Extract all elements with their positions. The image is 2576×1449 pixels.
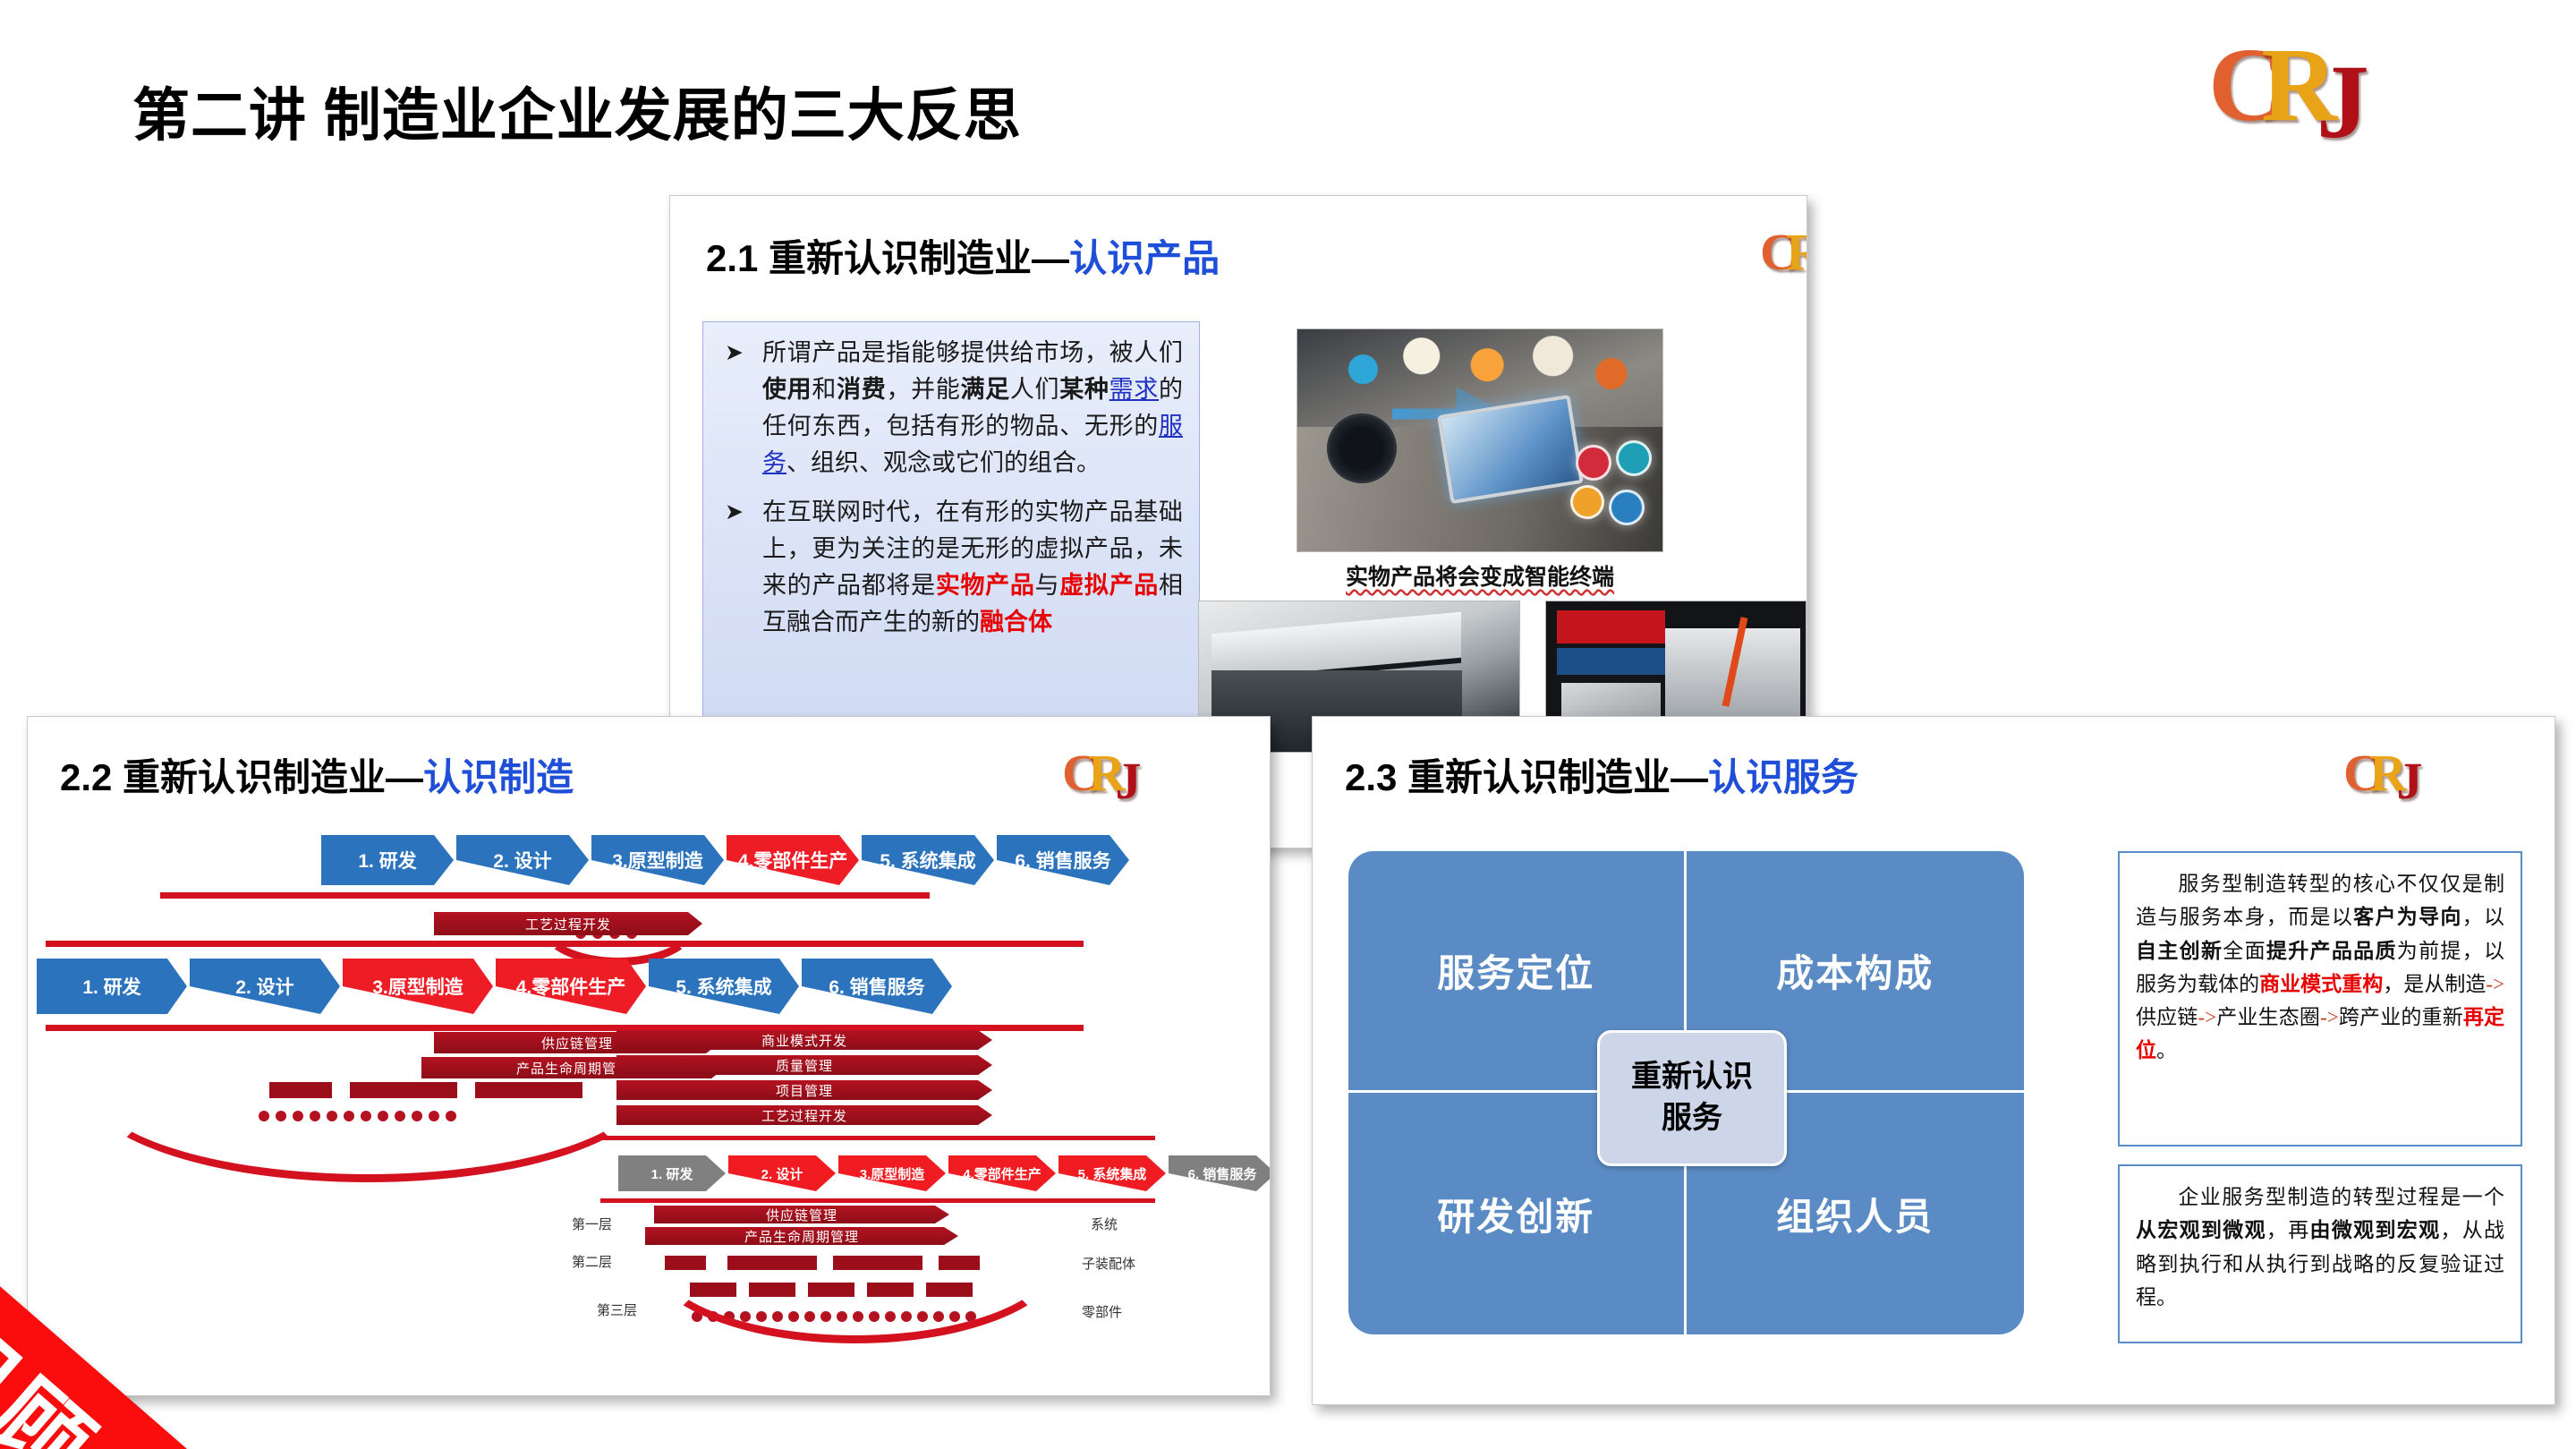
level-label-1: 第一层: [572, 1215, 612, 1233]
process-step-1[interactable]: 1. 研发: [618, 1155, 726, 1191]
logo-letter-j: J: [2317, 43, 2369, 160]
flow-curve: [645, 1164, 1066, 1343]
slide-title-2-2: 2.2 重新认识制造业—认识制造: [60, 747, 574, 802]
brand-badge-red: [1557, 610, 1666, 644]
text-run: ->: [2486, 973, 2504, 995]
center-line-2: 服务: [1662, 1098, 1722, 1139]
process-step-1[interactable]: 1. 研发: [37, 959, 187, 1014]
slide-title-2-1-black: 2.1 重新认识制造业—: [706, 237, 1069, 279]
crj-logo-slide-2-1: CRJ: [1760, 226, 1807, 278]
note-text-2: 企业服务型制造的转型过程是一个从宏观到微观，再由微观到宏观，从战略到执行和从执行…: [2136, 1186, 2504, 1308]
text-run: 某种: [1059, 376, 1109, 403]
text-run: 人们: [1010, 376, 1059, 403]
overlay-bar-business-model: 商业模式开发: [616, 1030, 992, 1050]
photo-caption: 实物产品将会变成智能终端: [1297, 559, 1663, 592]
app-icon-blue: [1609, 490, 1645, 525]
right-label-component: 零部件: [1082, 1302, 1122, 1321]
note-textbox-2: 企业服务型制造的转型过程是一个从宏观到微观，再由微观到宏观，从战略到执行和从执行…: [2118, 1164, 2522, 1343]
process-step-3[interactable]: 3.原型制造: [591, 835, 724, 885]
text-run: 供应链: [2136, 1006, 2198, 1028]
text-run: 提升产品品质: [2266, 940, 2397, 962]
flow-curve: [81, 985, 654, 1182]
text-run: 与: [1035, 572, 1060, 599]
bullet-item: ➤ 所谓产品是指能够提供给市场，被人们使用和消费，并能满足人们某种需求的任何东西…: [718, 335, 1183, 482]
brand-badge-blue: [1557, 648, 1666, 675]
note-textbox-1: 服务型制造转型的核心不仅仅是制造与服务本身，而是以客户为导向，以自主创新全面提升…: [2118, 851, 2522, 1146]
logo-letter-r: R: [1786, 223, 1807, 281]
text-run: ->: [2320, 1006, 2339, 1028]
text-run: 由微观到宏观: [2310, 1219, 2441, 1241]
process-step-6[interactable]: 6. 销售服务: [802, 959, 952, 1014]
text-run: 跨产业的重新: [2339, 1006, 2463, 1028]
text-run: 所谓产品是指能够提供给市场，被人们: [762, 339, 1183, 366]
overlay-bar-project: 项目管理: [616, 1080, 992, 1100]
process-step-5[interactable]: 5. 系统集成: [649, 959, 799, 1014]
text-run: ，再: [2266, 1219, 2310, 1241]
text-run: 自主创新: [2136, 940, 2223, 962]
bullet-text: 在互联网时代，在有形的实物产品基础上，更为关注的是无形的虚拟产品，未来的产品都将…: [762, 499, 1183, 635]
text-run: ，并能: [886, 376, 960, 403]
logo-letter-j: J: [1115, 752, 1141, 810]
slide-title-2-2-blue: 认识制造: [423, 756, 574, 798]
slide-title-2-1: 2.1 重新认识制造业—认识产品: [706, 228, 1220, 283]
slide-canvas: 第二讲 制造业企业发展的三大反思 CRJ 2.1 重新认识制造业—认识产品 CR…: [0, 0, 2576, 1449]
slide-title-2-1-blue: 认识产品: [1069, 237, 1220, 279]
page-title: 第二讲 制造业企业发展的三大反思: [132, 70, 1022, 152]
app-icon-orange: [1570, 485, 1604, 519]
process-step-4[interactable]: 4.零部件生产: [727, 835, 859, 885]
text-run: 、组织、观念或它们的组合。: [786, 449, 1101, 476]
flow-line: [600, 1136, 1155, 1140]
level-label-3: 第三层: [597, 1300, 637, 1319]
process-step-2[interactable]: 2. 设计: [456, 835, 589, 885]
text-run: ->: [2198, 1006, 2216, 1028]
right-label-subassembly: 子装配体: [1082, 1254, 1135, 1273]
text-run: ，是从制造: [2383, 973, 2486, 995]
smart-terminal-photo: [1297, 328, 1663, 552]
bullet-item: ➤ 在互联网时代，在有形的实物产品基础上，更为关注的是无形的虚拟产品，未来的产品…: [718, 494, 1183, 641]
text-run: 需求: [1109, 376, 1159, 403]
process-step-5[interactable]: 5. 系统集成: [1058, 1155, 1166, 1191]
flow-line: [46, 941, 1084, 947]
right-label-system: 系统: [1091, 1215, 1118, 1233]
text-run: 和: [812, 376, 837, 403]
slide-title-2-3-blue: 认识服务: [1708, 756, 1858, 798]
bullet-arrow-icon: ➤: [725, 337, 744, 371]
text-run: 从宏观到微观: [2136, 1219, 2266, 1241]
center-line-1: 重新认识: [1631, 1057, 1753, 1098]
process-chevrons-row-1: 1. 研发2. 设计3.原型制造4.零部件生产5. 系统集成6. 销售服务: [321, 835, 1132, 885]
text-run: 企业服务型制造的转型过程是一个: [2177, 1186, 2504, 1208]
bullet-list-panel: ➤ 所谓产品是指能够提供给市场，被人们使用和消费，并能满足人们某种需求的任何东西…: [702, 321, 1200, 769]
slide-title-2-3: 2.3 重新认识制造业—认识服务: [1345, 747, 1858, 802]
crj-logo: CRJ: [2208, 32, 2369, 138]
process-step-6[interactable]: 6. 销售服务: [997, 835, 1129, 885]
text-run: 全面: [2223, 940, 2266, 962]
crj-logo-slide-2-3: CRJ: [2343, 747, 2422, 799]
bullet-arrow-icon: ➤: [725, 496, 744, 530]
text-run: 使用: [762, 376, 812, 403]
app-icon-teal: [1616, 440, 1652, 476]
text-run: 消费: [837, 376, 886, 403]
speedometer-dial: [1327, 413, 1397, 483]
overlay-bar-process-dev: 工艺过程开发: [434, 912, 702, 935]
process-step-6[interactable]: 6. 销售服务: [1169, 1155, 1271, 1191]
crj-logo-slide-2-2: CRJ: [1062, 747, 1141, 799]
slide-thumbnail-2-2[interactable]: 2.2 重新认识制造业—认识制造 CRJ 1. 研发2. 设计3.原型制造4.零…: [27, 716, 1271, 1396]
text-run: 融合体: [980, 609, 1052, 635]
text-run: 。: [2156, 1039, 2177, 1061]
text-run: ，以: [2462, 906, 2504, 928]
process-step-1[interactable]: 1. 研发: [321, 835, 454, 885]
process-step-5[interactable]: 5. 系统集成: [862, 835, 994, 885]
overlay-bar-process-dev-2: 工艺过程开发: [616, 1105, 992, 1125]
flow-line: [160, 892, 930, 899]
text-run: 虚拟产品: [1059, 572, 1159, 599]
slide-thumbnail-2-3[interactable]: 2.3 重新认识制造业—认识服务 CRJ 服务定位 成本构成 研发创新 组织人员…: [1312, 716, 2555, 1405]
text-run: 产业生态圈: [2216, 1006, 2320, 1028]
text-run: 满足: [961, 376, 1010, 403]
slide-title-2-3-black: 2.3 重新认识制造业—: [1345, 756, 1708, 798]
level-label-2: 第二层: [572, 1252, 612, 1271]
overlay-bar-quality: 质量管理: [616, 1055, 992, 1075]
bullet-text: 所谓产品是指能够提供给市场，被人们使用和消费，并能满足人们某种需求的任何东西，包…: [762, 339, 1183, 476]
logo-letter-j: J: [2396, 752, 2422, 810]
slide-title-2-2-black: 2.2 重新认识制造业—: [60, 756, 423, 798]
text-run: 客户为导向: [2353, 906, 2462, 928]
quadrant-center-label: 重新认识 服务: [1597, 1030, 1787, 1166]
note-text-1: 服务型制造转型的核心不仅仅是制造与服务本身，而是以客户为导向，以自主创新全面提升…: [2136, 873, 2504, 1061]
app-icon-red: [1576, 445, 1611, 481]
text-run: 实物产品: [936, 572, 1035, 599]
text-run: 商业模式重构: [2259, 973, 2383, 995]
